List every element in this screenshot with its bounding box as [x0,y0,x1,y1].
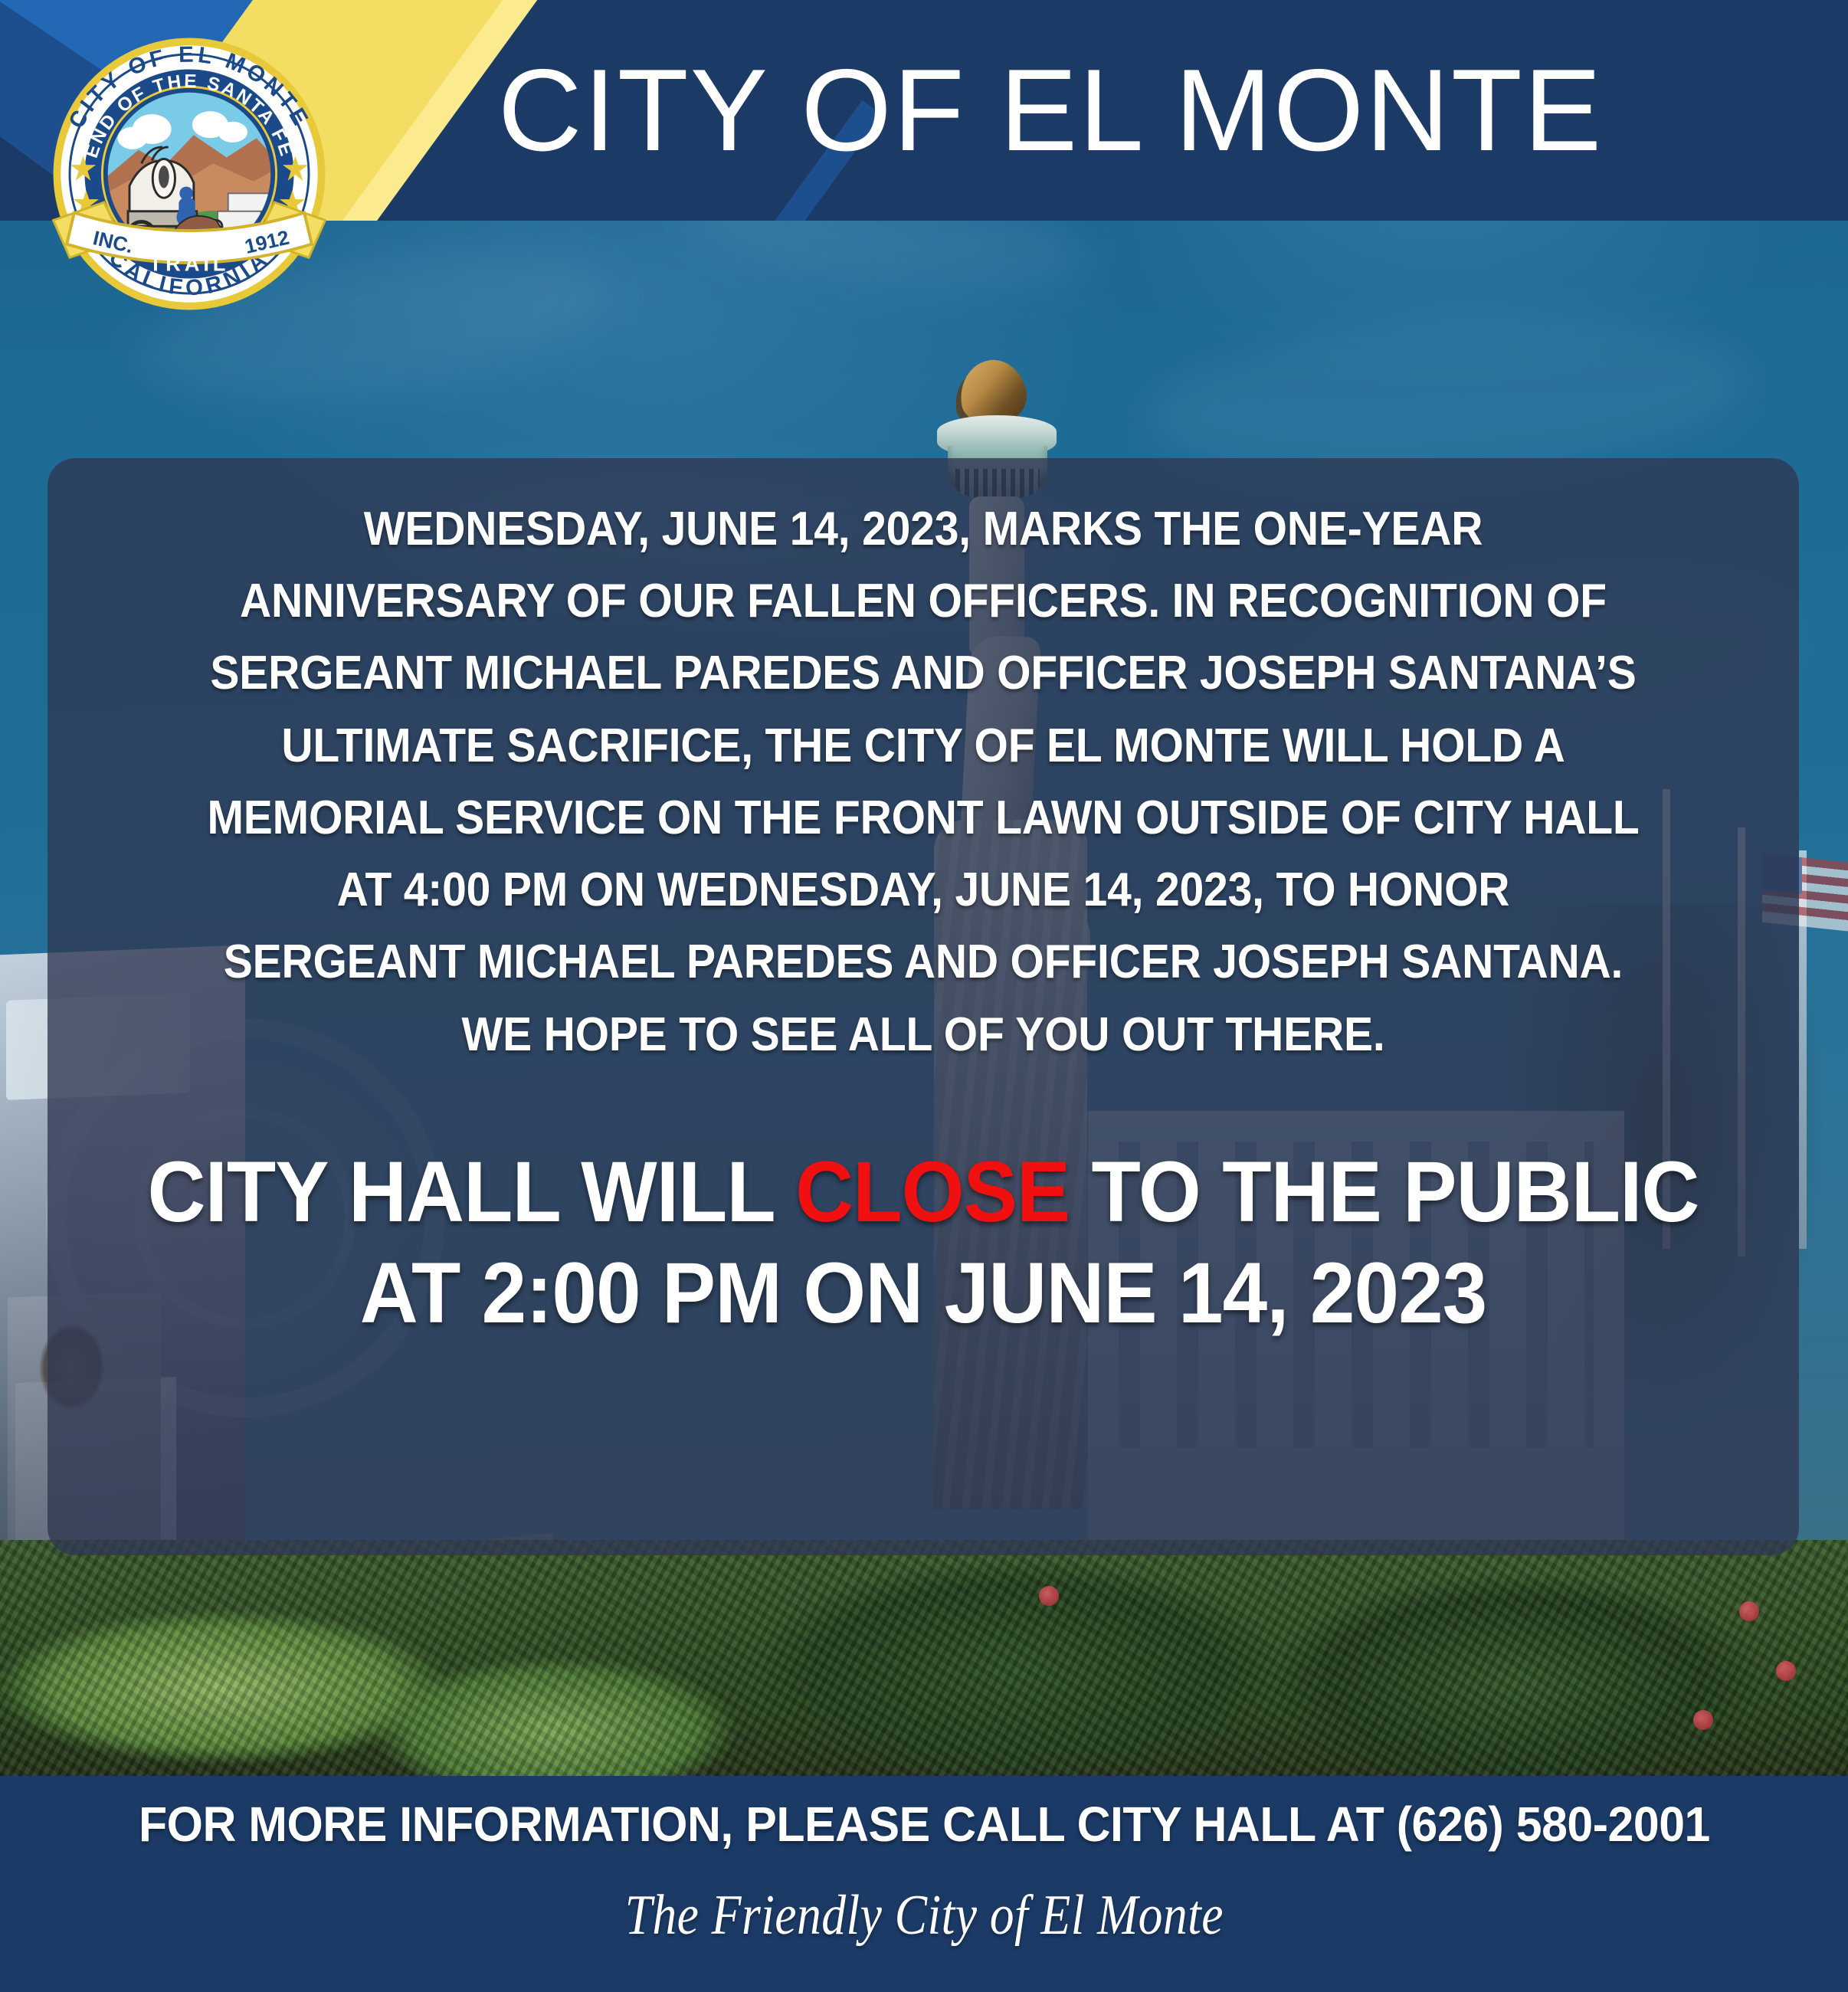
paragraph-line: WEDNESDAY, JUNE 14, 2023, MARKS THE ONE-… [162,493,1683,565]
rose-bloom [1039,1586,1059,1606]
closure-text-after: TO THE PUBLIC [1070,1144,1699,1240]
announcement-poster: CITY OF EL MONTE [0,0,1848,1992]
closure-line-1: CITY HALL WILL CLOSE TO THE PUBLIC [146,1142,1701,1243]
closure-notice: CITY HALL WILL CLOSE TO THE PUBLIC AT 2:… [146,1142,1701,1344]
paragraph-line: SERGEANT MICHAEL PAREDES AND OFFICER JOS… [162,637,1683,709]
footer-bar: FOR MORE INFORMATION, PLEASE CALL CITY H… [0,1776,1848,1992]
paragraph-line: AT 4:00 PM ON WEDNESDAY, JUNE 14, 2023, … [162,854,1683,926]
announcement-paragraph: WEDNESDAY, JUNE 14, 2023, MARKS THE ONE-… [162,493,1683,1071]
city-seal-icon: CITY OF EL MONTE END OF THE SANTA FE CAL… [40,25,339,323]
closure-highlight-word: CLOSE [795,1144,1070,1240]
footer-contact-info: FOR MORE INFORMATION, PLEASE CALL CITY H… [139,1796,1710,1853]
front-lawn-garden [0,1540,1848,1777]
footer-tagline: The Friendly City of El Monte [624,1883,1223,1948]
paragraph-line: WE HOPE TO SEE ALL OF YOU OUT THERE. [162,999,1683,1071]
paragraph-line: SERGEANT MICHAEL PAREDES AND OFFICER JOS… [162,926,1683,998]
rose-bloom [1739,1601,1759,1621]
closure-line-2: AT 2:00 PM ON JUNE 14, 2023 [146,1243,1701,1344]
announcement-panel: WEDNESDAY, JUNE 14, 2023, MARKS THE ONE-… [48,458,1799,1555]
paragraph-line: ANNIVERSARY OF OUR FALLEN OFFICERS. IN R… [162,565,1683,637]
paragraph-line: MEMORIAL SERVICE ON THE FRONT LAWN OUTSI… [162,782,1683,854]
paragraph-line: ULTIMATE SACRIFICE, THE CITY OF EL MONTE… [162,710,1683,782]
rose-bloom [1776,1661,1796,1681]
seal-ribbon-center: TRAIL [149,252,230,276]
rose-bloom [1693,1710,1713,1730]
closure-text-before: CITY HALL WILL [148,1144,796,1240]
